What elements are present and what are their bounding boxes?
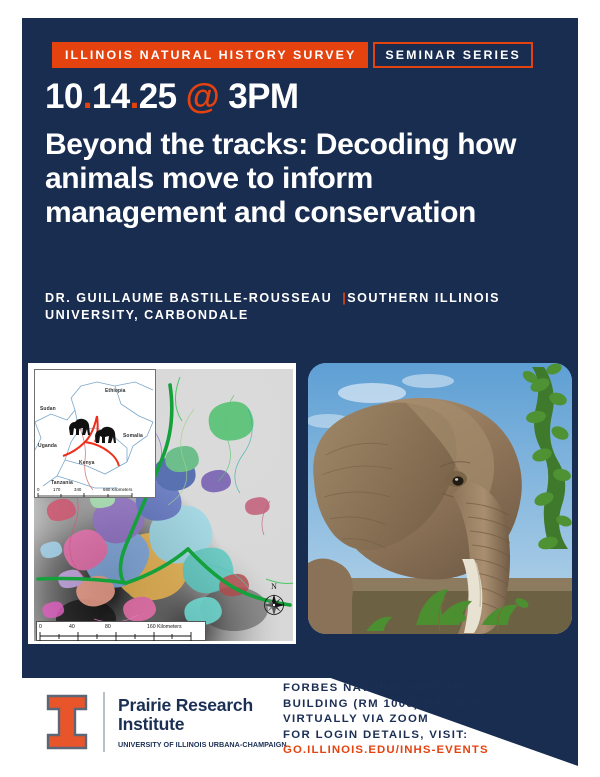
- compass-rose-icon: N: [260, 580, 288, 618]
- banner-series-label: SEMINAR SERIES: [373, 42, 532, 68]
- map-scalebar-graphic: [39, 632, 205, 641]
- figure-row: Ethiopia Sudan Somalia Uganda Kenya Tanz…: [28, 363, 572, 644]
- venue-line-1: FORBES NATURAL HISTORY: [283, 681, 489, 697]
- poster-footer: Prairie Research Institute UNIVERSITY OF…: [0, 678, 600, 777]
- speaker-line: DR. GUILLAUME BASTILLE-ROUSSEAU |SOUTHER…: [45, 290, 545, 324]
- venue-line-4: FOR LOGIN DETAILS, VISIT:: [283, 728, 489, 744]
- venue-details: FORBES NATURAL HISTORY BUILDING (RM 1005…: [283, 681, 489, 759]
- institute-name-line-2: Institute: [118, 715, 287, 735]
- seminar-title: Beyond the tracks: Decoding how animals …: [45, 128, 555, 230]
- inset-country-ethiopia: Ethiopia: [105, 388, 126, 394]
- map-scale-tick-80: 80: [105, 624, 111, 630]
- illinois-block-i-icon: [45, 693, 89, 751]
- event-date-day: 14: [92, 77, 130, 116]
- institute-name: Prairie Research Institute: [118, 696, 287, 735]
- prairie-research-institute-logo: Prairie Research Institute UNIVERSITY OF…: [45, 692, 287, 752]
- map-inset-region: Ethiopia Sudan Somalia Uganda Kenya Tanz…: [34, 369, 156, 498]
- seminar-poster: ILLINOIS NATURAL HISTORY SURVEY SEMINAR …: [0, 0, 600, 777]
- svg-text:N: N: [271, 582, 277, 591]
- inset-country-sudan: Sudan: [40, 406, 56, 412]
- event-date-year: 25: [139, 77, 177, 116]
- event-date-dot-1: .: [83, 77, 92, 116]
- inset-country-somalia: Somalia: [123, 433, 143, 439]
- header-banner: ILLINOIS NATURAL HISTORY SURVEY SEMINAR …: [52, 42, 533, 68]
- event-at-symbol: @: [186, 77, 220, 116]
- event-registration-link[interactable]: GO.ILLINOIS.EDU/INHS-EVENTS: [283, 743, 489, 759]
- inset-scale-tick-0: 0: [37, 487, 39, 492]
- movement-track-map-figure: Ethiopia Sudan Somalia Uganda Kenya Tanz…: [28, 363, 296, 644]
- banner-organization-label: ILLINOIS NATURAL HISTORY SURVEY: [52, 42, 368, 68]
- elephant-photo: [308, 363, 572, 634]
- inset-scale-tick-340: 340: [74, 487, 81, 492]
- map-scale-tick-160: 160 Kilometers: [147, 624, 182, 630]
- inset-country-kenya: Kenya: [79, 460, 95, 466]
- map-scale-tick-0: 0: [39, 624, 42, 630]
- university-name: UNIVERSITY OF ILLINOIS URBANA-CHAMPAIGN: [118, 740, 287, 749]
- inset-country-tanzania: Tanzania: [51, 480, 73, 486]
- inset-country-uganda: Uganda: [38, 443, 57, 449]
- venue-line-2: BUILDING (RM 1005) OR JOIN: [283, 697, 489, 713]
- institute-name-line-1: Prairie Research: [118, 696, 287, 716]
- event-date-dot-2: .: [130, 77, 139, 116]
- event-date-month: 10: [45, 77, 83, 116]
- elephant-photo-graphic: [308, 363, 572, 634]
- event-time: 3PM: [228, 77, 298, 116]
- inset-scale-tick-170: 170: [53, 487, 60, 492]
- venue-line-3: VIRTUALLY VIA ZOOM: [283, 712, 489, 728]
- logo-divider: [103, 692, 105, 752]
- map-canvas: Ethiopia Sudan Somalia Uganda Kenya Tanz…: [34, 369, 296, 644]
- map-scale-tick-40: 40: [69, 624, 75, 630]
- inset-scale-tick-680: 680 Kilometers: [103, 487, 132, 492]
- speaker-name: DR. GUILLAUME BASTILLE-ROUSSEAU: [45, 291, 332, 305]
- inset-scalebar-graphic: [37, 493, 147, 498]
- event-datetime: 10.14.25 @ 3PM: [45, 77, 298, 117]
- map-scalebar: 0 40 80 160 Kilometers: [36, 621, 206, 641]
